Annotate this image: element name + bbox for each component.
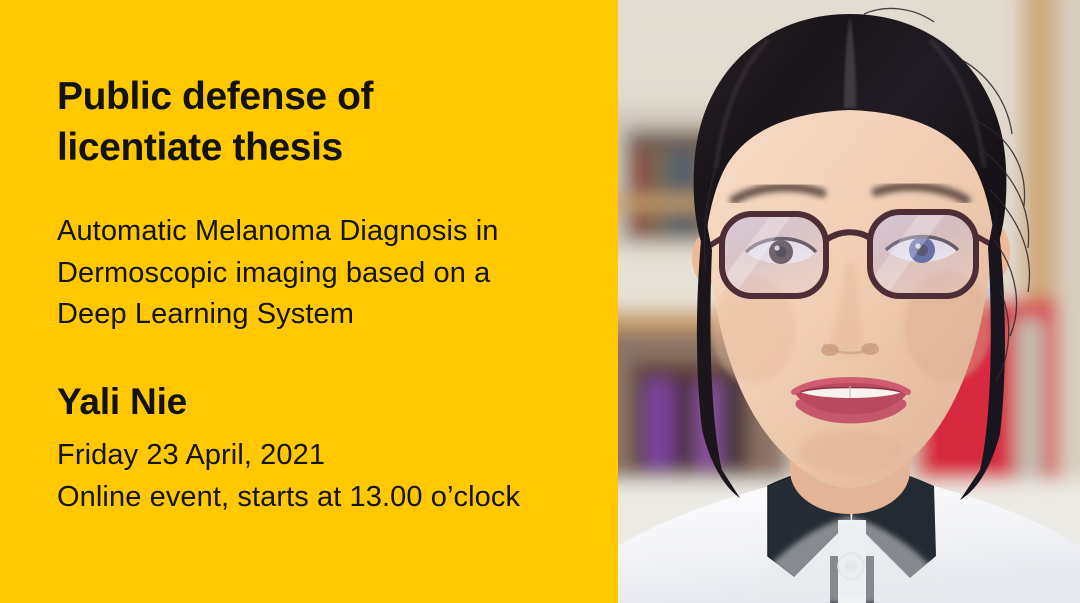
portrait-photo <box>618 0 1080 603</box>
page-title: Public defense of licentiate thesis <box>57 72 602 173</box>
text-block: Public defense of licentiate thesis Auto… <box>57 72 602 518</box>
yellow-text-panel: Public defense of licentiate thesis Auto… <box>0 0 618 603</box>
event-time: Online event, starts at 13.00 o’clock <box>57 477 602 518</box>
event-details: Friday 23 April, 2021 Online event, star… <box>57 435 602 518</box>
poster-root: Public defense of licentiate thesis Auto… <box>0 0 1080 603</box>
thesis-title-line-2: Dermoscopic imaging based on a <box>57 253 602 294</box>
portrait-photo-panel <box>618 0 1080 603</box>
presenter-name: Yali Nie <box>57 381 602 424</box>
thesis-title-line-1: Automatic Melanoma Diagnosis in <box>57 211 602 252</box>
headline-line-1: Public defense of <box>57 72 602 123</box>
event-date: Friday 23 April, 2021 <box>57 435 602 476</box>
thesis-title: Automatic Melanoma Diagnosis in Dermosco… <box>57 211 602 335</box>
thesis-title-line-3: Deep Learning System <box>57 294 602 335</box>
headline-line-2: licentiate thesis <box>57 123 602 174</box>
